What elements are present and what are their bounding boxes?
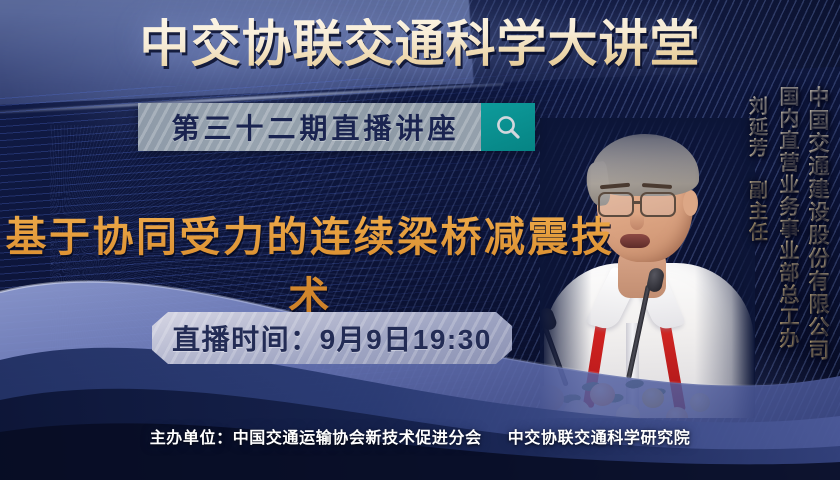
session-label: 第三十二期直播讲座 [138, 107, 481, 147]
broadcast-time-label: 直播时间：9月9日19:30 [172, 318, 492, 358]
session-banner: 第三十二期直播讲座 [138, 103, 535, 151]
organizer-primary: 主办单位：中国交通运输协会新技术促进分会 [150, 430, 482, 447]
broadcast-time-badge: 直播时间：9月9日19:30 [152, 312, 512, 364]
search-icon [494, 113, 522, 141]
live-lecture-poster: 中交协联交通科学大讲堂 第三十二期直播讲座 基于协同受力的连续梁桥减震技术 直播… [0, 0, 840, 480]
speaker-company: 中国交通建设股份有限公司 [802, 86, 832, 362]
organizer-secondary: 中交协联交通科学研究院 [508, 430, 691, 447]
lecture-headline: 基于协同受力的连续梁桥减震技术 [0, 203, 620, 323]
main-title-wrap: 中交协联交通科学大讲堂 [0, 18, 840, 70]
speaker-department: 国内直营业务事业部总工办 [773, 86, 802, 350]
organizer-footer: 主办单位：中国交通运输协会新技术促进分会中交协联交通科学研究院 [0, 424, 840, 448]
speaker-name-title: 刘延芳 副主任 [743, 96, 770, 243]
search-button[interactable] [481, 103, 535, 151]
page-title: 中交协联交通科学大讲堂 [134, 18, 707, 70]
